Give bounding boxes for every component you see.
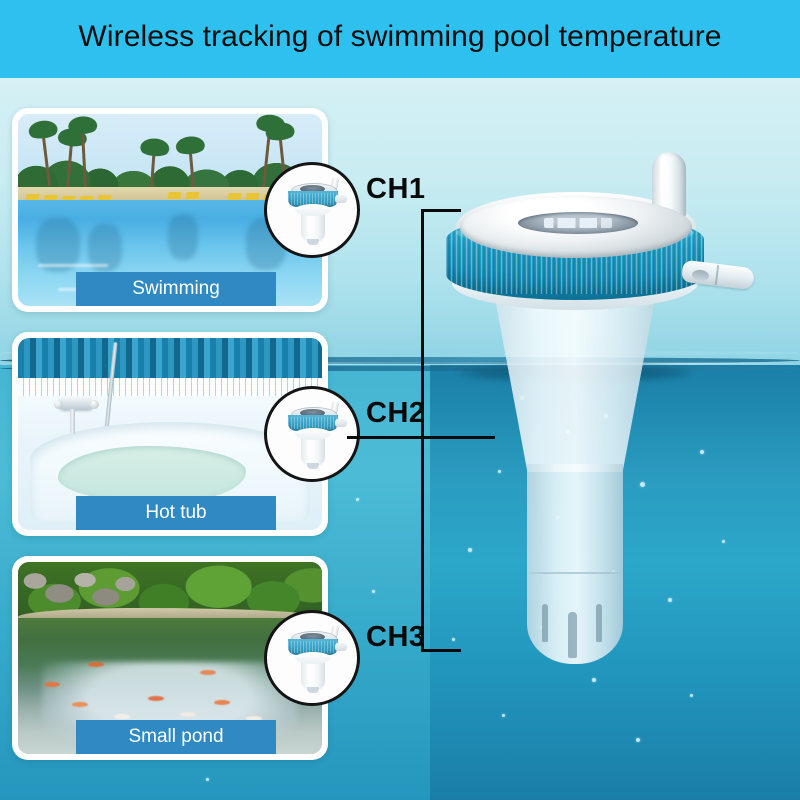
lounger xyxy=(167,192,181,199)
bubble xyxy=(372,590,375,593)
mini-body xyxy=(301,206,325,242)
product-hero-floating-thermometer xyxy=(430,152,760,732)
product-body-seam xyxy=(529,572,621,574)
koi-fish xyxy=(148,696,164,701)
water-shimmer xyxy=(38,264,108,267)
page-title: Wireless tracking of swimming pool tempe… xyxy=(0,20,800,54)
lcd-digits xyxy=(544,218,612,228)
callout-circle-ch3 xyxy=(264,610,360,706)
lounger xyxy=(185,192,199,199)
channel-label-ch3: CH3 xyxy=(366,621,426,654)
koi-fish xyxy=(214,700,230,705)
probe-vent-slot xyxy=(568,612,577,658)
mini-probe-tip xyxy=(307,687,319,693)
mini-body xyxy=(301,430,325,466)
channel-label-ch1: CH1 xyxy=(366,173,426,206)
connector-trunk-vertical xyxy=(421,210,424,652)
callout-circle-ch1 xyxy=(264,162,360,258)
koi-fish xyxy=(180,712,196,717)
card-caption-small-pond: Small pond xyxy=(76,720,276,754)
mini-probe-tip xyxy=(307,463,319,469)
koi-fish xyxy=(114,714,130,719)
mini-thermometer-ch3 xyxy=(267,613,357,703)
mini-thermometer-ch2 xyxy=(267,389,357,479)
koi-fish xyxy=(44,682,60,687)
mini-clip-icon xyxy=(335,195,347,203)
bubble xyxy=(356,498,359,501)
lounger xyxy=(227,193,241,200)
lcd-display xyxy=(518,212,638,234)
mini-thermometer-ch1 xyxy=(267,165,357,255)
mini-body xyxy=(301,654,325,690)
header-banner: Wireless tracking of swimming pool tempe… xyxy=(0,0,800,78)
mini-clip-icon xyxy=(335,643,347,651)
callout-circle-ch2 xyxy=(264,386,360,482)
mini-clip-icon xyxy=(335,419,347,427)
infographic-canvas: Wireless tracking of swimming pool tempe… xyxy=(0,0,800,800)
bubble xyxy=(206,778,209,781)
probe-vent-slot xyxy=(542,604,548,642)
card-caption-hot-tub: Hot tub xyxy=(76,496,276,530)
channel-label-ch2: CH2 xyxy=(366,397,426,430)
bubble xyxy=(636,738,640,742)
mini-probe-tip xyxy=(307,239,319,245)
koi-fish xyxy=(72,702,88,707)
faucet-knob xyxy=(90,400,99,409)
lounger xyxy=(245,193,259,200)
probe-vent-slot xyxy=(596,604,602,642)
koi-fish xyxy=(88,662,104,667)
koi-fish xyxy=(200,670,216,675)
antenna-highlight xyxy=(660,160,669,198)
faucet-knob xyxy=(54,400,63,409)
tub-water xyxy=(58,446,246,504)
water-reflection xyxy=(168,214,198,260)
card-caption-swimming: Swimming xyxy=(76,272,276,306)
